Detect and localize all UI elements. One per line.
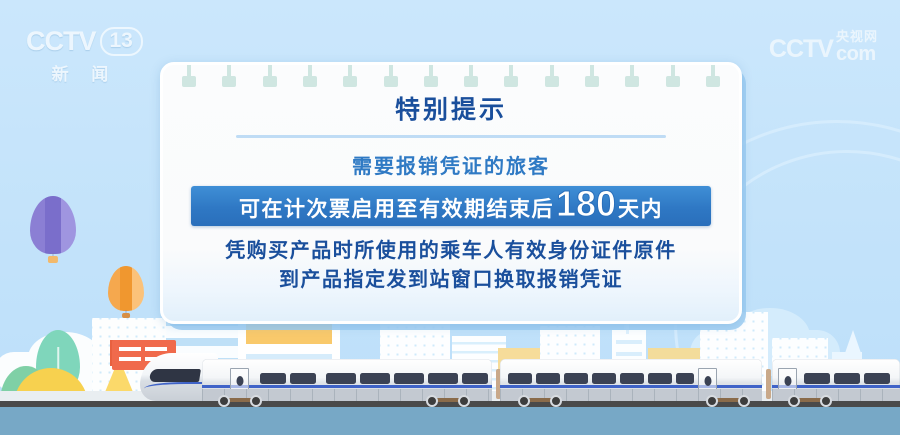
- channel-name-cn: 新 闻: [26, 60, 143, 85]
- notice-card: 特别提示 需要报销凭证的旅客 可在计次票启用至有效期结束后180天内 凭购买产品…: [160, 62, 742, 324]
- cctv13-channel-logo: CCTV 13 新 闻: [26, 26, 143, 85]
- channel-number: 13: [100, 27, 143, 56]
- highlight-suffix: 天内: [618, 193, 663, 223]
- purple-hot-air-balloon-icon: [30, 196, 76, 254]
- watermark-cctv-text: CCTV: [769, 35, 833, 64]
- ground-strip: [0, 407, 900, 435]
- broadcast-screenshot: 特别提示 需要报销凭证的旅客 可在计次票启用至有效期结束后180天内 凭购买产品…: [0, 0, 900, 435]
- title-divider: [236, 135, 666, 138]
- high-speed-train-icon: [140, 353, 900, 401]
- paragraph-line-1: 凭购买产品时所使用的乘车人有效身份证件原件: [185, 237, 717, 266]
- highlight-prefix: 可在计次票启用至有效期结束后: [239, 193, 554, 223]
- highlight-number: 180: [556, 190, 616, 219]
- watermark-cn-text: 央视网: [836, 30, 878, 43]
- paragraph-line-2: 到产品指定发到站窗口换取报销凭证: [185, 266, 717, 295]
- card-subtitle: 需要报销凭证的旅客: [185, 150, 717, 179]
- card-title: 特别提示: [185, 95, 717, 126]
- cctv-com-watermark: CCTV 央视网 com: [769, 30, 878, 64]
- orange-hot-air-balloon-icon: [108, 266, 144, 311]
- watermark-domain-text: com: [836, 44, 876, 64]
- card-paragraph: 凭购买产品时所使用的乘车人有效身份证件原件 到产品指定发到站窗口换取报销凭证: [185, 237, 717, 295]
- highlight-banner: 可在计次票启用至有效期结束后180天内: [191, 186, 711, 226]
- cctv-wordmark: CCTV: [26, 26, 96, 57]
